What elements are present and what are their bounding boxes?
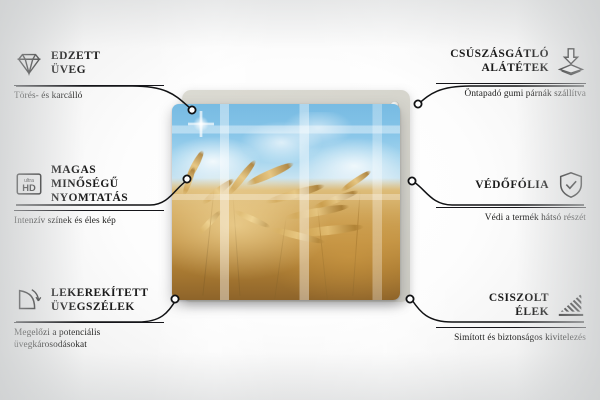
shield-check-icon	[556, 170, 586, 200]
feature-subtitle: Öntapadó gumi párnák szállítva	[436, 88, 586, 100]
wheat-field-photo	[172, 104, 400, 300]
feature-subtitle: Védi a termék hátsó részét	[436, 212, 586, 224]
feature-subtitle: Intenzív színek és éles kép	[14, 215, 164, 227]
hatched-bevel-icon	[556, 290, 586, 320]
divider	[14, 210, 164, 211]
feature-subtitle: Megelőzi a potenciális üvegkárosodásokat	[14, 327, 164, 351]
divider	[436, 327, 586, 328]
divider	[436, 207, 586, 208]
rounded-corner-icon	[14, 285, 44, 315]
feature-title: LEKEREKÍTETTÜVEGSZÉLEK	[51, 286, 164, 314]
feature-tempered-glass[interactable]: EDZETTÜVEG Törés- és karcálló	[14, 46, 164, 102]
ultra-hd-icon: ultra HD	[14, 169, 44, 199]
glass-panel	[172, 104, 400, 300]
warm-haze	[172, 104, 400, 300]
press-pads-icon	[556, 46, 586, 76]
feature-title: CSÚSZÁSGÁTLÓALÁTÉTEK	[436, 47, 549, 75]
feature-title: EDZETTÜVEG	[51, 49, 164, 77]
feature-title: MAGAS MINŐSÉGŰNYOMTATÁS	[51, 163, 164, 205]
connector-dot-pads	[414, 100, 421, 107]
feature-rounded-glass-edges[interactable]: LEKEREKÍTETTÜVEGSZÉLEK Megelőzi a potenc…	[14, 283, 164, 352]
divider	[14, 85, 164, 86]
product-visual	[182, 90, 410, 302]
feature-title: VÉDŐFÓLIA	[436, 178, 549, 192]
feature-polished-edges[interactable]: CSISZOLTÉLEK Simított és biztonságos kiv…	[436, 288, 586, 344]
feature-title: CSISZOLTÉLEK	[436, 291, 549, 319]
divider	[14, 322, 164, 323]
feature-subtitle: Simított és biztonságos kivitelezés	[436, 332, 586, 344]
feature-anti-slip-pads[interactable]: CSÚSZÁSGÁTLÓALÁTÉTEK Öntapadó gumi párná…	[436, 44, 586, 100]
svg-text:HD: HD	[22, 183, 36, 193]
infographic-canvas: EDZETTÜVEG Törés- és karcálló ultra HD M…	[0, 0, 600, 400]
feature-protective-film[interactable]: VÉDŐFÓLIA Védi a termék hátsó részét	[436, 168, 586, 224]
feature-high-quality-print[interactable]: ultra HD MAGAS MINŐSÉGŰNYOMTATÁS Intenzí…	[14, 163, 164, 228]
divider	[436, 83, 586, 84]
diamond-icon	[14, 48, 44, 78]
feature-subtitle: Törés- és karcálló	[14, 90, 164, 102]
